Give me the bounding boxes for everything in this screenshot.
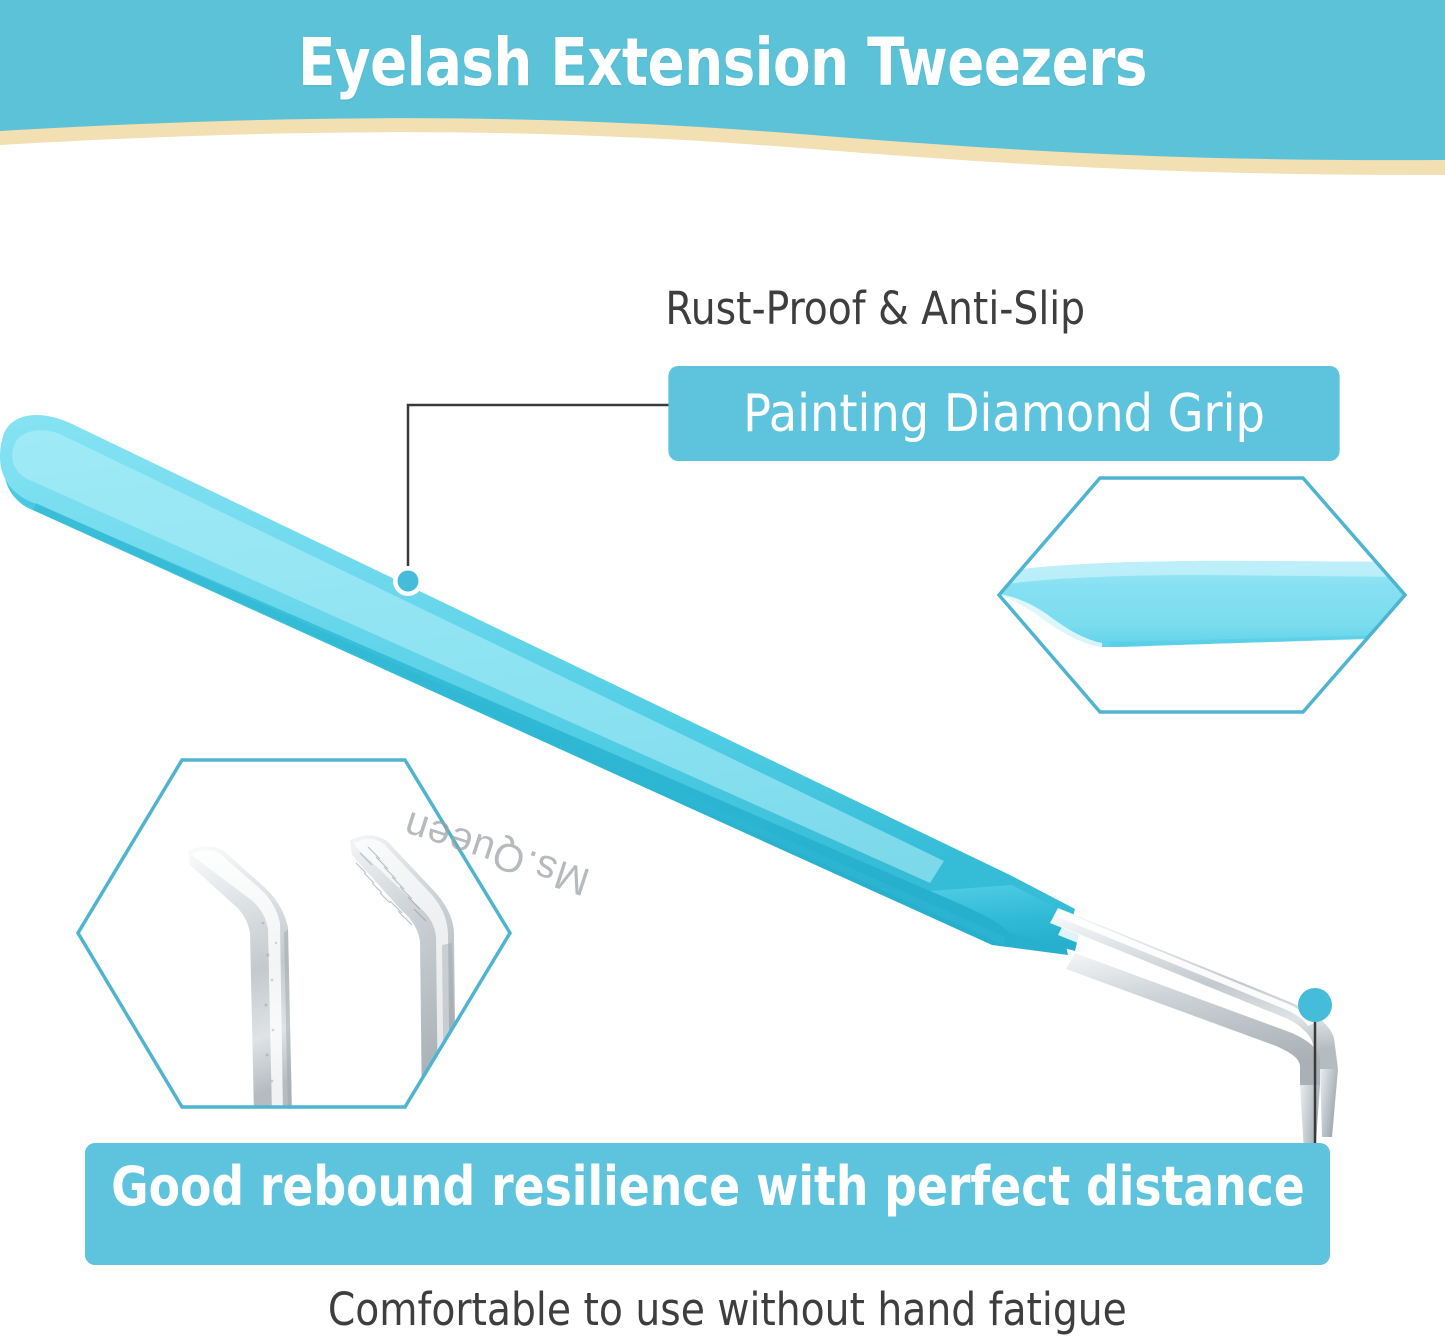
callout-rebound-banner-label: Good rebound resilience with perfect dis… [111,1155,1305,1218]
hex-inset-left [78,760,510,1115]
hex-inset-right-content [999,478,1412,712]
caption-comfortable: Comfortable to use without hand fatigue [22,1283,1424,1336]
header-banner: Eyelash Extension Tweezers [0,0,1445,200]
leader-line-handle [408,405,680,581]
hex-inset-left-content [78,760,510,1115]
callout-rebound-banner: Good rebound resilience with perfect dis… [85,1143,1330,1265]
hex-inset-right [999,478,1412,712]
leader-dot-handle [398,571,419,592]
leader-dot-tips [1298,988,1332,1022]
callout-painting-diamond-grip: Painting Diamond Grip [668,366,1339,461]
steel-arm-gap [1058,927,1304,1035]
page-title: Eyelash Extension Tweezers [58,30,1387,96]
caption-rust-proof: Rust-Proof & Anti-Slip [22,282,1424,335]
steel-upper-tip [1320,1069,1338,1137]
callout-painting-diamond-grip-label: Painting Diamond Grip [743,384,1265,444]
callout-line-handle [393,405,680,596]
